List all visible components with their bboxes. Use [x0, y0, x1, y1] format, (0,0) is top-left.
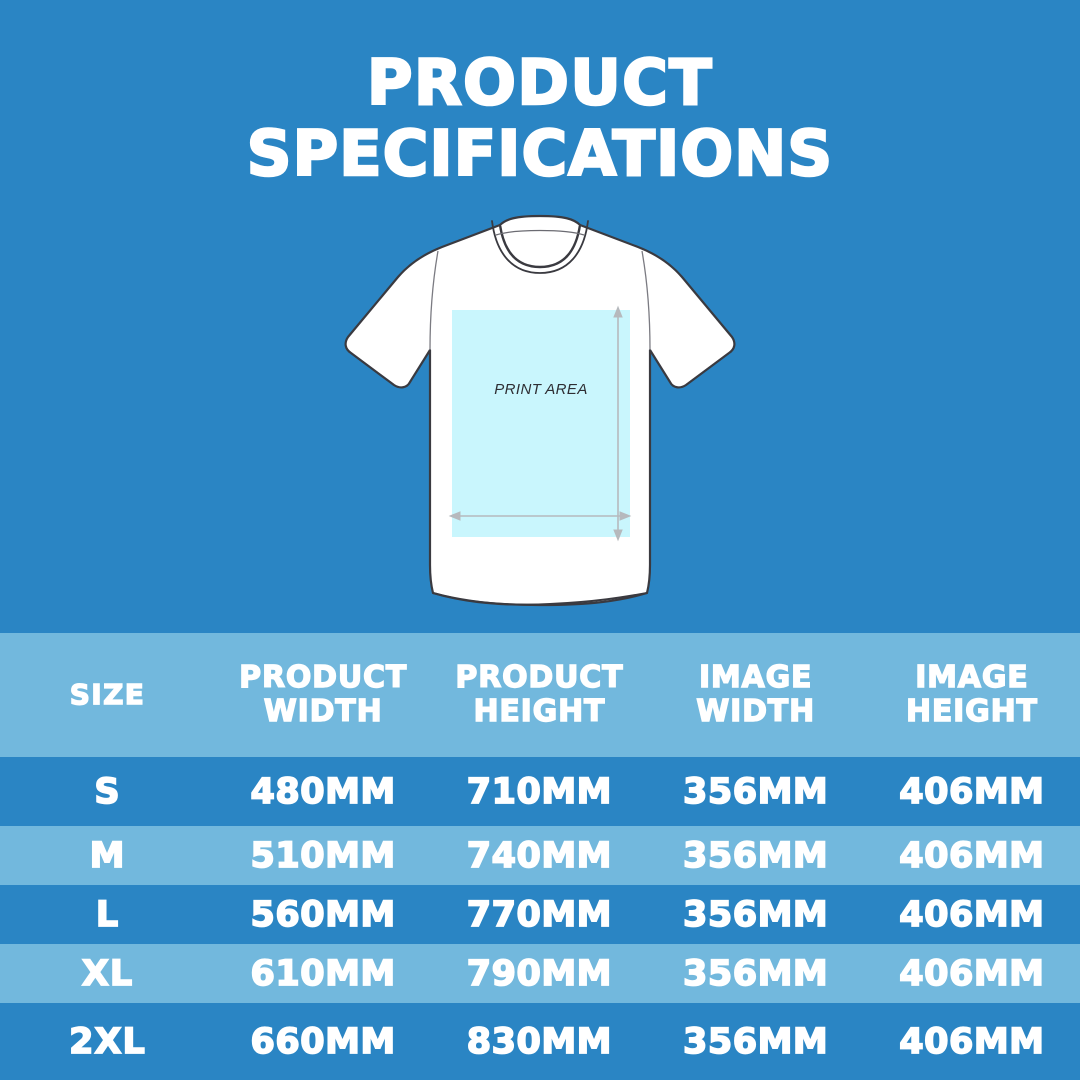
cell-image-width: 356MM: [648, 944, 864, 1003]
cell-image-height: 406MM: [864, 944, 1080, 1003]
cell-product-height: 790MM: [431, 944, 647, 1003]
specifications-table: SIZE PRODUCT WIDTH PRODUCT HEIGHT IMAGE …: [0, 633, 1080, 1080]
cell-size: 2XL: [0, 1003, 215, 1080]
column-header-product-width-line2: WIDTH: [215, 695, 431, 729]
tshirt-illustration: [320, 205, 760, 630]
column-header-image-width-line2: WIDTH: [648, 695, 864, 729]
page-title: PRODUCT SPECIFICATIONS: [0, 52, 1080, 185]
table-row: 2XL 660MM 830MM 356MM 406MM: [0, 1003, 1080, 1080]
table-row: XL 610MM 790MM 356MM 406MM: [0, 944, 1080, 1003]
cell-image-height: 406MM: [864, 757, 1080, 826]
cell-product-width: 610MM: [215, 944, 431, 1003]
cell-product-width: 660MM: [215, 1003, 431, 1080]
cell-size: L: [0, 885, 215, 944]
table-header: SIZE PRODUCT WIDTH PRODUCT HEIGHT IMAGE …: [0, 633, 1080, 757]
cell-image-width: 356MM: [648, 1003, 864, 1080]
table-row: M 510MM 740MM 356MM 406MM: [0, 826, 1080, 885]
cell-image-height: 406MM: [864, 1003, 1080, 1080]
table-body: S 480MM 710MM 356MM 406MM M 510MM 740MM …: [0, 757, 1080, 1080]
print-area-rect: [452, 310, 630, 537]
table-row: S 480MM 710MM 356MM 406MM: [0, 757, 1080, 826]
column-header-product-height-line1: PRODUCT: [431, 661, 647, 695]
column-header-product-height: PRODUCT HEIGHT: [431, 633, 647, 757]
column-header-image-width: IMAGE WIDTH: [648, 633, 864, 757]
product-specifications-page: PRODUCT SPECIFICATIONS: [0, 0, 1080, 1080]
column-header-image-height-line1: IMAGE: [864, 661, 1080, 695]
page-title-line-1: PRODUCT: [0, 52, 1080, 114]
cell-product-width: 510MM: [215, 826, 431, 885]
print-area-label: PRINT AREA: [452, 381, 630, 398]
column-header-product-height-line2: HEIGHT: [431, 695, 647, 729]
cell-image-width: 356MM: [648, 826, 864, 885]
table-header-row: SIZE PRODUCT WIDTH PRODUCT HEIGHT IMAGE …: [0, 633, 1080, 757]
column-header-size: SIZE: [0, 633, 215, 757]
cell-product-height: 830MM: [431, 1003, 647, 1080]
cell-image-height: 406MM: [864, 885, 1080, 944]
cell-product-width: 560MM: [215, 885, 431, 944]
cell-image-width: 356MM: [648, 885, 864, 944]
column-header-product-width: PRODUCT WIDTH: [215, 633, 431, 757]
cell-product-width: 480MM: [215, 757, 431, 826]
cell-image-width: 356MM: [648, 757, 864, 826]
column-header-product-width-line1: PRODUCT: [215, 661, 431, 695]
cell-product-height: 710MM: [431, 757, 647, 826]
cell-size: XL: [0, 944, 215, 1003]
cell-size: M: [0, 826, 215, 885]
cell-product-height: 770MM: [431, 885, 647, 944]
column-header-image-height: IMAGE HEIGHT: [864, 633, 1080, 757]
cell-image-height: 406MM: [864, 826, 1080, 885]
cell-size: S: [0, 757, 215, 826]
page-title-line-2: SPECIFICATIONS: [0, 123, 1080, 185]
column-header-image-width-line1: IMAGE: [648, 661, 864, 695]
table-row: L 560MM 770MM 356MM 406MM: [0, 885, 1080, 944]
tshirt-mockup: [320, 205, 760, 630]
column-header-image-height-line2: HEIGHT: [864, 695, 1080, 729]
cell-product-height: 740MM: [431, 826, 647, 885]
column-header-size-line1: SIZE: [0, 678, 215, 712]
